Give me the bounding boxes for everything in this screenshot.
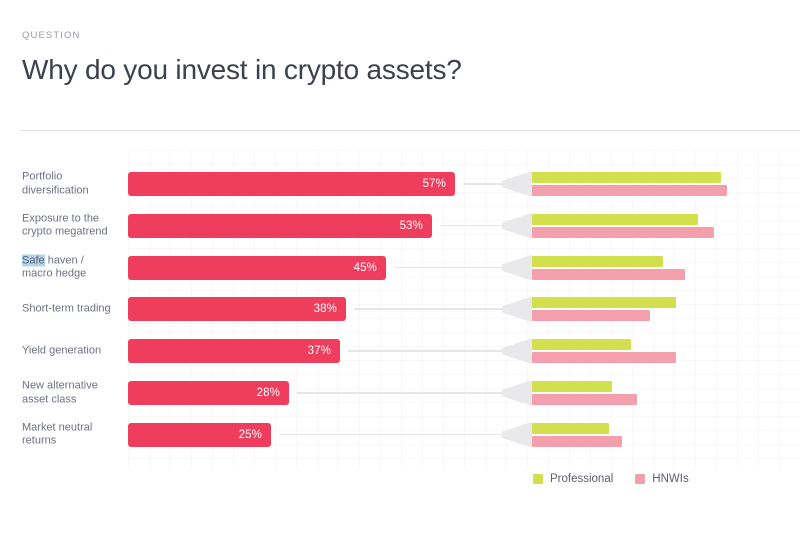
breakdown-bars-7 <box>532 423 622 447</box>
breakdown-bars-5 <box>532 339 676 363</box>
selected-text: Safe <box>22 254 45 266</box>
bar-total-4[interactable]: 38% <box>128 297 346 321</box>
connector-wedge-icon <box>502 422 532 448</box>
connector-wedge-icon <box>502 255 532 281</box>
breakdown-bars-2 <box>532 214 714 238</box>
connector-line <box>354 308 502 310</box>
bar-total-2[interactable]: 53% <box>128 214 432 238</box>
bar-value-label: 45% <box>354 262 377 274</box>
row-label-5: Yield generation <box>22 344 122 358</box>
chart-row: Short-term trading38% <box>0 296 800 322</box>
legend-swatch-professional <box>533 474 543 484</box>
row-label-7: Market neutralreturns <box>22 421 122 448</box>
connector-line <box>279 434 502 436</box>
connector-wedge-icon <box>502 380 532 406</box>
chart-row: Safe haven /macro hedge45% <box>0 255 800 281</box>
connector-wedge-icon <box>502 213 532 239</box>
bar-total-3[interactable]: 45% <box>128 256 386 280</box>
chart-row: Market neutralreturns25% <box>0 422 800 448</box>
bar-value-label: 57% <box>423 178 446 190</box>
legend-swatch-hnwis <box>635 474 645 484</box>
legend-item-1[interactable]: Professional <box>533 473 613 485</box>
row-label-2: Exposure to thecrypto megatrend <box>22 212 122 239</box>
breakdown-bars-1 <box>532 172 727 196</box>
bar-professional-5[interactable] <box>532 339 631 350</box>
bar-professional-6[interactable] <box>532 381 612 392</box>
bar-total-6[interactable]: 28% <box>128 381 289 405</box>
bar-value-label: 37% <box>308 345 331 357</box>
bar-chart: Portfoliodiversification57%Exposure to t… <box>0 0 800 539</box>
bar-professional-7[interactable] <box>532 423 609 434</box>
chart-legend: ProfessionalHNWIs <box>533 473 689 485</box>
bar-hnwis-7[interactable] <box>532 436 622 447</box>
legend-item-2[interactable]: HNWIs <box>635 473 688 485</box>
chart-row: Portfoliodiversification57% <box>0 171 800 197</box>
legend-label: HNWIs <box>652 473 688 485</box>
breakdown-bars-3 <box>532 256 685 280</box>
breakdown-bars-4 <box>532 297 676 321</box>
row-label-1: Portfoliodiversification <box>22 171 122 198</box>
row-label-6: New alternativeasset class <box>22 380 122 407</box>
connector-wedge-icon <box>502 171 532 197</box>
connector-wedge-icon <box>502 338 532 364</box>
breakdown-bars-6 <box>532 381 637 405</box>
bar-total-7[interactable]: 25% <box>128 423 271 447</box>
bar-professional-4[interactable] <box>532 297 676 308</box>
bar-hnwis-6[interactable] <box>532 394 637 405</box>
row-label-4: Short-term trading <box>22 303 122 317</box>
chart-row: Yield generation37% <box>0 338 800 364</box>
bar-total-1[interactable]: 57% <box>128 172 455 196</box>
bar-value-label: 28% <box>257 387 280 399</box>
connector-line <box>463 183 502 185</box>
connector-line <box>394 267 502 269</box>
bar-total-5[interactable]: 37% <box>128 339 340 363</box>
chart-row: New alternativeasset class28% <box>0 380 800 406</box>
bar-professional-1[interactable] <box>532 172 721 183</box>
bar-hnwis-1[interactable] <box>532 185 727 196</box>
bar-value-label: 53% <box>400 220 423 232</box>
bar-hnwis-2[interactable] <box>532 227 714 238</box>
legend-label: Professional <box>550 473 613 485</box>
bar-value-label: 25% <box>239 429 262 441</box>
bar-professional-2[interactable] <box>532 214 698 225</box>
connector-line <box>297 392 502 394</box>
connector-line <box>440 225 502 227</box>
connector-wedge-icon <box>502 296 532 322</box>
bar-value-label: 38% <box>314 303 337 315</box>
bar-hnwis-4[interactable] <box>532 310 650 321</box>
bar-hnwis-3[interactable] <box>532 269 685 280</box>
bar-hnwis-5[interactable] <box>532 352 676 363</box>
connector-line <box>348 350 502 352</box>
chart-row: Exposure to thecrypto megatrend53% <box>0 213 800 239</box>
bar-professional-3[interactable] <box>532 256 663 267</box>
row-label-3: Safe haven /macro hedge <box>22 254 122 281</box>
